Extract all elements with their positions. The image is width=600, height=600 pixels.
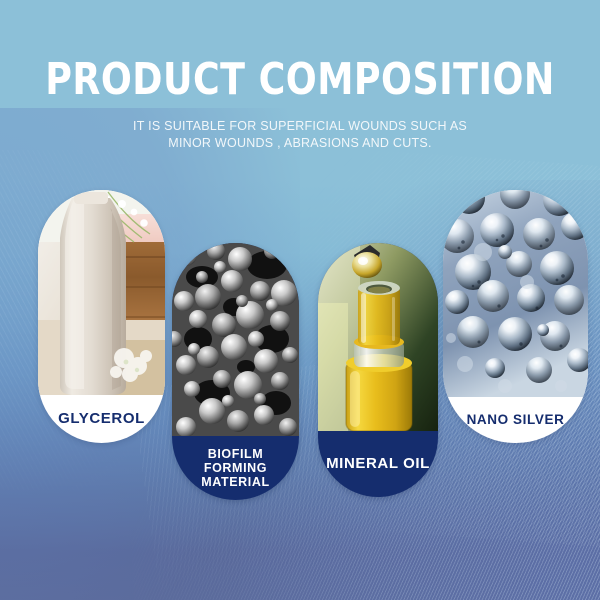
ingredient-label-mineral-oil: MINERAL OIL [318, 431, 438, 497]
page-subtitle-line-2: MINOR WOUNDS , ABRASIONS AND CUTS. [0, 135, 600, 152]
page-subtitle: IT IS SUITABLE FOR SUPERFICIAL WOUNDS SU… [0, 118, 600, 153]
ingredient-label-text: GLYCEROL [58, 411, 145, 428]
nano-silver-particles-photo [443, 190, 588, 397]
ingredient-card-nano-silver[interactable]: NANO SILVER [443, 190, 588, 443]
mineral-oil-bottle-photo [318, 243, 438, 431]
biofilm-microscopy-photo [172, 243, 299, 436]
page-title: PRODUCT COMPOSITION [24, 58, 576, 102]
ingredient-label-glycerol: GLYCEROL [38, 395, 165, 443]
ingredient-label-text: BIOFILM FORMING MATERIAL [178, 447, 293, 489]
ingredient-card-glycerol[interactable]: GLYCEROL [38, 190, 165, 443]
page-subtitle-line-1: IT IS SUITABLE FOR SUPERFICIAL WOUNDS SU… [0, 118, 600, 135]
ingredient-card-biofilm[interactable]: BIOFILM FORMING MATERIAL [172, 243, 299, 500]
product-composition-poster: PRODUCT COMPOSITION IT IS SUITABLE FOR S… [0, 0, 600, 600]
ingredient-label-biofilm: BIOFILM FORMING MATERIAL [172, 436, 299, 500]
ingredient-label-text: NANO SILVER [467, 412, 565, 427]
ingredient-card-mineral-oil[interactable]: MINERAL OIL [318, 243, 438, 497]
ingredient-label-nano-silver: NANO SILVER [443, 397, 588, 443]
ingredient-label-text: MINERAL OIL [326, 456, 430, 473]
glycerol-bottle-photo [38, 190, 165, 395]
heading-block: PRODUCT COMPOSITION IT IS SUITABLE FOR S… [0, 58, 600, 153]
